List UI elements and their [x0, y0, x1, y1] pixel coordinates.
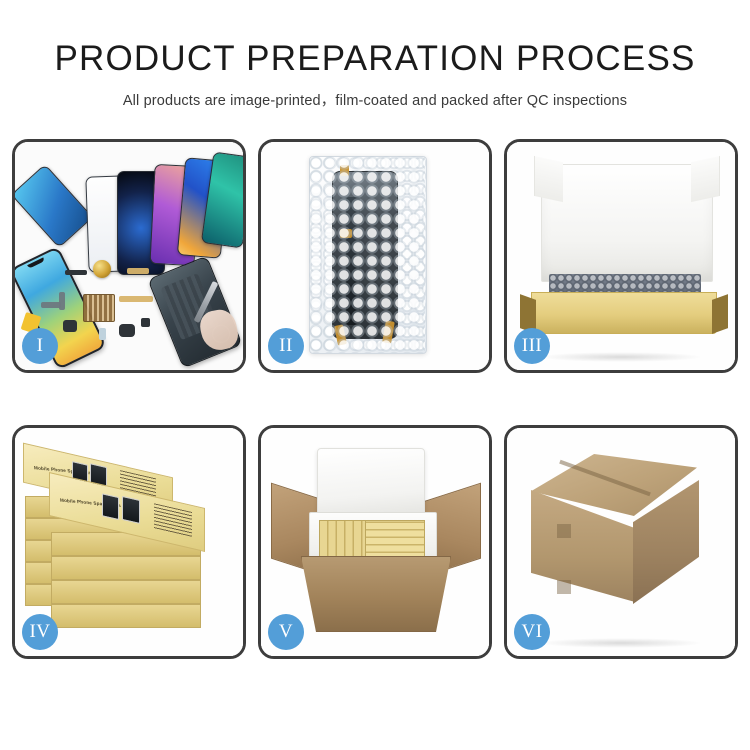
connector-array-part	[83, 294, 115, 322]
carton-body	[301, 556, 451, 632]
camera-module-part	[63, 320, 77, 332]
small-chip-part	[65, 270, 87, 275]
step-badge-2: II	[268, 328, 304, 364]
kraft-box-tray	[531, 292, 717, 334]
flex-cable-4	[41, 302, 61, 308]
process-step-3[interactable]: III	[504, 139, 738, 373]
ic-chip-part	[141, 318, 150, 327]
wrapped-part	[332, 171, 398, 339]
step-badge-6: VI	[514, 614, 550, 650]
stack-slab-f-4	[51, 604, 201, 628]
flex-cable-2	[119, 296, 153, 302]
box-label-phone-2a	[102, 493, 119, 520]
box-label-specs-2	[154, 503, 192, 538]
process-step-5[interactable]: V	[258, 425, 492, 659]
step-badge-3: III	[514, 328, 550, 364]
process-grid: I II	[12, 139, 738, 659]
process-step-4[interactable]: Mobile Phone Spare Parts Mobile Phone Sp…	[12, 425, 246, 659]
flex-cable-1	[127, 268, 149, 274]
notch-icon	[27, 257, 45, 268]
page-subtitle: All products are image-printed，film-coat…	[0, 78, 750, 110]
stack-slab-f-3	[51, 580, 201, 604]
wrapped-part-strip	[346, 197, 360, 325]
foam-lid	[541, 164, 713, 282]
packed-boxes-right	[365, 520, 425, 560]
drop-shadow	[539, 352, 703, 362]
tape-piece-mid	[340, 229, 352, 238]
carton-tape-lower	[557, 580, 571, 594]
carton-tape-upper	[557, 524, 571, 538]
process-step-1[interactable]: I	[12, 139, 246, 373]
box-label-phone-2b	[122, 496, 140, 524]
drop-shadow	[539, 638, 703, 648]
phone-back-cover	[15, 164, 93, 248]
foam-cooler-lid	[317, 448, 425, 520]
tape-piece-top	[340, 165, 349, 176]
stack-slab-f-2	[51, 556, 201, 580]
vibration-motor-part	[93, 260, 111, 278]
speaker-part	[119, 324, 135, 337]
step-badge-5: V	[268, 614, 304, 650]
process-step-6[interactable]: VI	[504, 425, 738, 659]
page-title: PRODUCT PREPARATION PROCESS	[0, 0, 750, 78]
step-badge-1: I	[22, 328, 58, 364]
sim-tray-part	[99, 328, 106, 340]
page-header: PRODUCT PREPARATION PROCESS All products…	[0, 0, 750, 130]
bubble-wrap-bag	[309, 156, 427, 354]
step-badge-4: IV	[22, 614, 58, 650]
process-step-2[interactable]: II	[258, 139, 492, 373]
